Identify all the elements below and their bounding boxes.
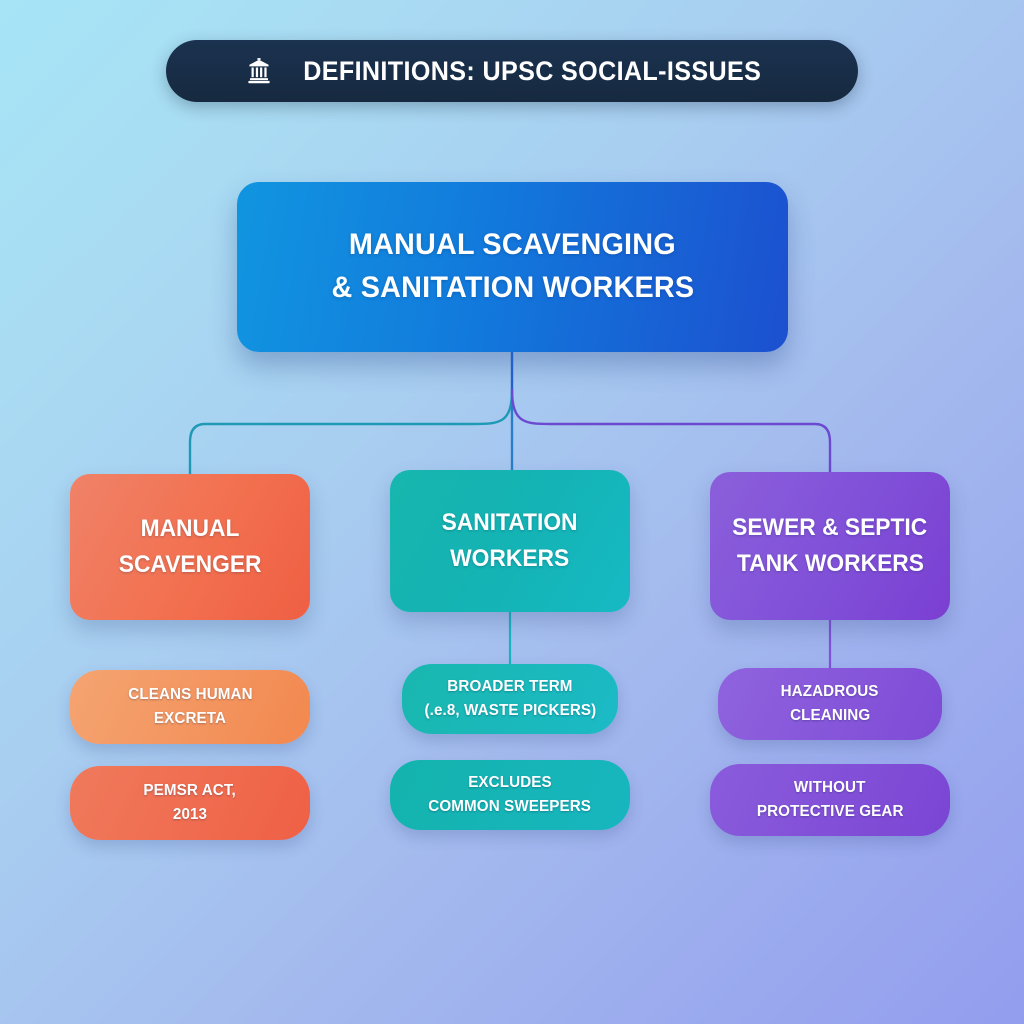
header-banner: DEFINITIONS: UPSC SOCIAL-ISSUES xyxy=(166,40,858,102)
branch-node-sewer-septic-tank-workers[interactable]: SEWER & SEPTIC TANK WORKERS xyxy=(710,472,950,620)
branch-title-line-2: WORKERS xyxy=(450,541,569,577)
branch-title-line-2: SCAVENGER xyxy=(119,547,262,583)
detail-pill-hazardous-cleaning[interactable]: HAZADROUS CLEANING xyxy=(718,668,942,740)
detail-line-1: CLEANS HUMAN xyxy=(128,683,252,707)
detail-line-2: CLEANING xyxy=(790,704,870,728)
detail-line-1: PEMSR ACT, xyxy=(144,779,236,803)
branch-column-sewer-septic-tank-workers: SEWER & SEPTIC TANK WORKERS HAZADROUS CL… xyxy=(710,472,950,836)
detail-pill-excludes-common-sweepers[interactable]: EXCLUDES COMMON SWEEPERS xyxy=(390,760,630,830)
branch-title-line-2: TANK WORKERS xyxy=(736,546,923,582)
branch-node-sanitation-workers[interactable]: SANITATION WORKERS xyxy=(390,470,630,612)
branch-column-manual-scavenger: MANUAL SCAVENGER CLEANS HUMAN EXCRETA PE… xyxy=(70,474,310,840)
detail-line-2: PROTECTIVE GEAR xyxy=(757,800,904,824)
detail-pill-cleans-human-excreta[interactable]: CLEANS HUMAN EXCRETA xyxy=(70,670,310,744)
detail-line-1: EXCLUDES xyxy=(468,771,552,795)
detail-line-1: HAZADROUS xyxy=(781,680,879,704)
branch-node-manual-scavenger[interactable]: MANUAL SCAVENGER xyxy=(70,474,310,620)
detail-line-1: WITHOUT xyxy=(794,776,866,800)
detail-line-2: 2013 xyxy=(173,803,207,827)
root-node-line-1: MANUAL SCAVENGING xyxy=(349,224,676,267)
bank-building-icon xyxy=(245,57,273,85)
root-node-manual-scavenging[interactable]: MANUAL SCAVENGING & SANITATION WORKERS xyxy=(237,182,788,352)
branch-title-line-1: SANITATION xyxy=(442,505,578,541)
detail-line-1: BROADER TERM xyxy=(447,675,572,699)
detail-pill-pemsr-act-2013[interactable]: PEMSR ACT, 2013 xyxy=(70,766,310,840)
branch-column-sanitation-workers: SANITATION WORKERS BROADER TERM (.e.8, W… xyxy=(390,470,630,830)
detail-pill-without-protective-gear[interactable]: WITHOUT PROTECTIVE GEAR xyxy=(710,764,950,836)
branch-title-line-1: SEWER & SEPTIC xyxy=(732,510,927,546)
detail-line-2: COMMON SWEEPERS xyxy=(429,795,592,819)
detail-line-2: EXCRETA xyxy=(154,707,226,731)
branch-title-line-1: MANUAL xyxy=(141,511,240,547)
header-title: DEFINITIONS: UPSC SOCIAL-ISSUES xyxy=(304,56,762,87)
root-node-line-2: & SANITATION WORKERS xyxy=(331,267,694,310)
detail-line-2: (.e.8, WASTE PICKERS) xyxy=(424,699,596,723)
detail-pill-broader-term[interactable]: BROADER TERM (.e.8, WASTE PICKERS) xyxy=(402,664,618,734)
